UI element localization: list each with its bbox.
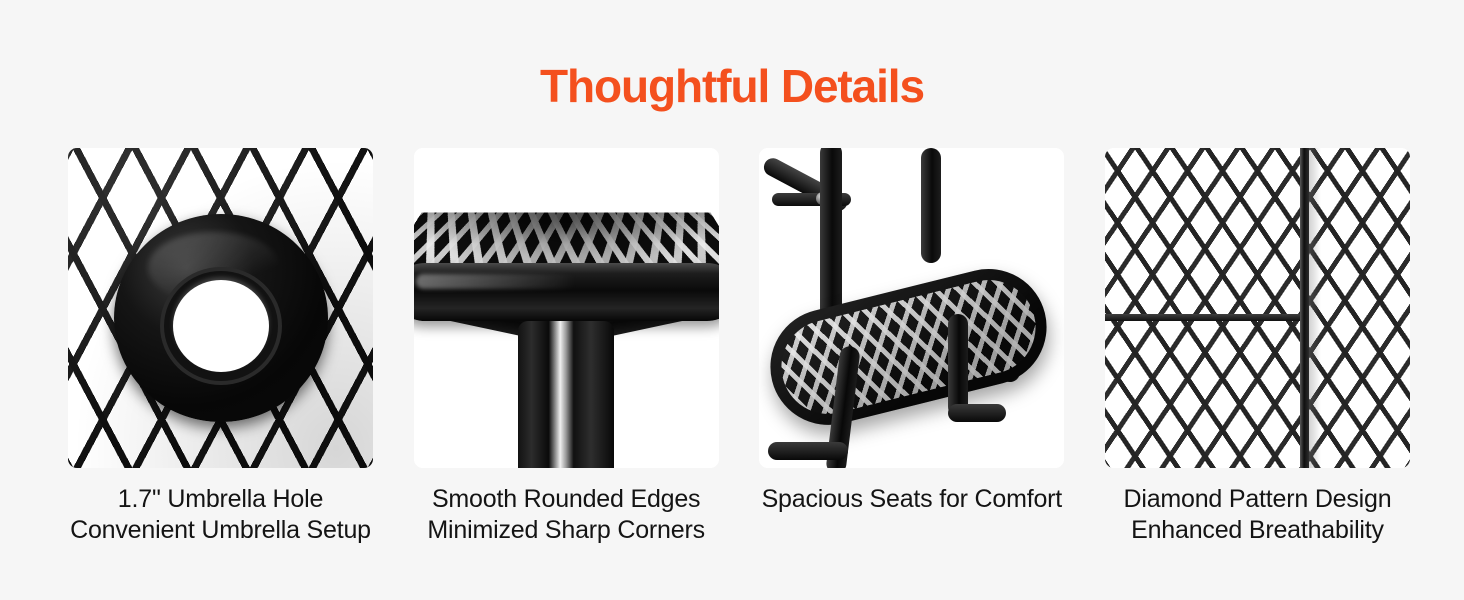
- umbrella-hole-opening: [173, 280, 269, 372]
- caption-line-2: Enhanced Breathability: [1123, 515, 1391, 546]
- caption-line-2: Minimized Sharp Corners: [427, 515, 704, 546]
- rounded-edge-rail: [414, 263, 719, 321]
- feature-item-umbrella-hole: 1.7" Umbrella Hole Convenient Umbrella S…: [68, 148, 373, 546]
- caption-line-2: Convenient Umbrella Setup: [70, 515, 371, 546]
- feature-item-spacious-seats: Spacious Seats for Comfort: [759, 148, 1064, 546]
- feature-caption-diamond-pattern: Diamond Pattern Design Enhanced Breathab…: [1123, 484, 1391, 546]
- fine-diamond-mesh-texture: [1105, 148, 1410, 468]
- caption-line-1: Spacious Seats for Comfort: [762, 485, 1063, 513]
- frame-post-right: [921, 148, 941, 263]
- seat-leg-middle: [948, 314, 968, 416]
- feature-caption-umbrella-hole: 1.7" Umbrella Hole Convenient Umbrella S…: [70, 484, 371, 546]
- rail-gloss-highlight: [416, 274, 604, 289]
- caption-line-1: Diamond Pattern Design: [1123, 485, 1391, 513]
- feature-item-diamond-pattern: Diamond Pattern Design Enhanced Breathab…: [1105, 148, 1410, 546]
- feature-image-rounded-edges: [414, 148, 719, 468]
- feature-image-umbrella-hole: [68, 148, 373, 468]
- feature-caption-spacious-seats: Spacious Seats for Comfort: [762, 484, 1063, 515]
- table-support-post: [518, 321, 614, 468]
- caption-line-1: 1.7" Umbrella Hole: [118, 485, 323, 513]
- caption-line-1: Smooth Rounded Edges: [432, 485, 700, 513]
- frame-bar-vertical: [1300, 148, 1309, 468]
- seat-foot-rail: [948, 404, 1006, 422]
- feature-banner: Thoughtful Details 1.7" Umbrella Hole Co…: [0, 0, 1464, 600]
- feature-caption-rounded-edges: Smooth Rounded Edges Minimized Sharp Cor…: [427, 484, 704, 546]
- feature-image-diamond-pattern: [1105, 148, 1410, 468]
- page-title: Thoughtful Details: [0, 62, 1464, 110]
- seat-foot-rail-left: [768, 442, 847, 460]
- umbrella-hole-grommet: [114, 214, 328, 422]
- feature-image-spacious-seats: [759, 148, 1064, 468]
- feature-list: 1.7" Umbrella Hole Convenient Umbrella S…: [68, 148, 1410, 546]
- feature-item-rounded-edges: Smooth Rounded Edges Minimized Sharp Cor…: [414, 148, 719, 546]
- mesh-horizontal-seam: [1105, 314, 1300, 321]
